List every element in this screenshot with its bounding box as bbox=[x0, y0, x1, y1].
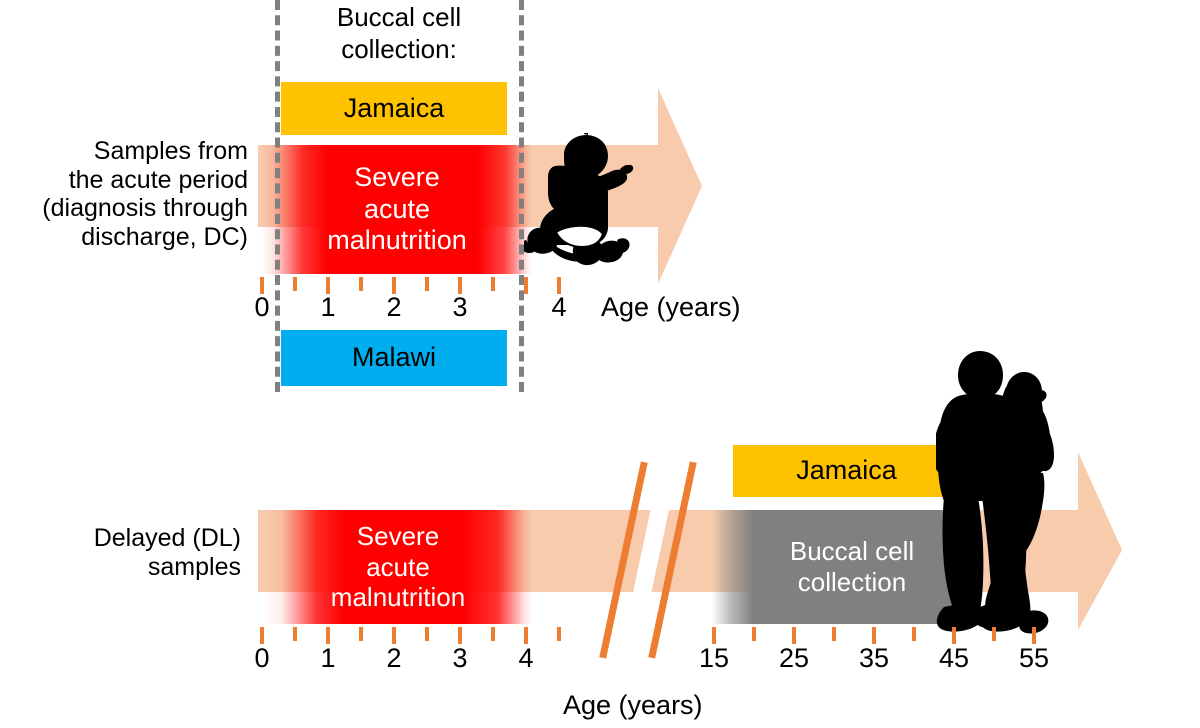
bottom-tick-label-45: 45 bbox=[932, 643, 976, 674]
top-jamaica-bar: Jamaica bbox=[281, 82, 507, 135]
bottom-tick-55 bbox=[1032, 627, 1036, 644]
top-jamaica-bar-label: Jamaica bbox=[344, 93, 445, 125]
top-tick-3-5b bbox=[524, 277, 528, 294]
bottom-tick-label-35: 35 bbox=[852, 643, 896, 674]
top-malawi-bar-label: Malawi bbox=[352, 342, 436, 374]
bottom-tick-45 bbox=[952, 627, 956, 644]
bottom-tick-2-5 bbox=[425, 627, 429, 641]
bottom-tick-20 bbox=[752, 627, 756, 641]
top-tick-3-5 bbox=[491, 277, 495, 291]
bottom-tick-4 bbox=[524, 627, 528, 644]
top-tick-label-4: 4 bbox=[539, 292, 579, 323]
bottom-buccal-bar-fade bbox=[712, 510, 754, 624]
top-malawi-bar: Malawi bbox=[281, 330, 507, 386]
top-header-label: Buccal cell collection: bbox=[287, 2, 511, 65]
top-tick-label-1: 1 bbox=[308, 292, 348, 323]
top-row-label: Samples from the acute period (diagnosis… bbox=[20, 137, 248, 251]
bottom-tick-label-25: 25 bbox=[772, 643, 816, 674]
bottom-tick-15 bbox=[712, 627, 716, 644]
bottom-tick-0-5 bbox=[293, 627, 297, 641]
bottom-axis-title: Age (years) bbox=[563, 690, 703, 721]
top-tick-0-5 bbox=[293, 277, 297, 291]
top-tick-label-3: 3 bbox=[440, 292, 480, 323]
bottom-malnutrition-bar: Severe acute malnutrition bbox=[263, 510, 533, 624]
adult-man-and-woman-silhouette bbox=[936, 345, 1060, 635]
bottom-jamaica-bar-label: Jamaica bbox=[796, 455, 897, 487]
bottom-tick-label-1: 1 bbox=[308, 643, 348, 674]
bottom-tick-3-5 bbox=[491, 627, 495, 641]
bottom-malnutrition-bar-label: Severe acute malnutrition bbox=[331, 521, 465, 613]
bottom-tick-35 bbox=[872, 627, 876, 644]
top-tick-2-5 bbox=[425, 277, 429, 291]
bottom-jamaica-bar: Jamaica bbox=[733, 445, 960, 497]
bottom-tick-50 bbox=[992, 627, 996, 641]
bottom-tick-label-55: 55 bbox=[1012, 643, 1056, 674]
top-malnutrition-bar: Severe acute malnutrition bbox=[262, 145, 532, 274]
bottom-tick-label-0: 0 bbox=[242, 643, 282, 674]
bottom-tick-label-15: 15 bbox=[692, 643, 736, 674]
bottom-tick-1 bbox=[326, 627, 330, 644]
figure-canvas: Buccal cell collection: Jamaica Severe a… bbox=[0, 0, 1200, 728]
collection-window-start-guide bbox=[275, 0, 280, 392]
bottom-tick-30 bbox=[832, 627, 836, 641]
top-tick-1-5 bbox=[359, 277, 363, 291]
bottom-tick-0 bbox=[260, 627, 264, 644]
top-axis-title: Age (years) bbox=[601, 292, 741, 323]
top-tick-label-2: 2 bbox=[374, 292, 414, 323]
bottom-tick-1-5 bbox=[359, 627, 363, 641]
bottom-tick-2 bbox=[392, 627, 396, 644]
bottom-tick-40 bbox=[912, 627, 916, 641]
bottom-tick-label-4: 4 bbox=[506, 643, 546, 674]
bottom-tick-25 bbox=[792, 627, 796, 644]
top-malnutrition-bar-label: Severe acute malnutrition bbox=[327, 162, 467, 258]
baby-sitting-silhouette bbox=[524, 133, 634, 275]
bottom-buccal-bar: Buccal cell collection bbox=[752, 510, 952, 624]
bottom-tick-3 bbox=[458, 627, 462, 644]
bottom-buccal-bar-label: Buccal cell collection bbox=[790, 536, 914, 597]
bottom-tick-label-2: 2 bbox=[374, 643, 414, 674]
bottom-tick-label-3: 3 bbox=[440, 643, 480, 674]
bottom-tick-4-5 bbox=[557, 627, 561, 641]
collection-window-end-guide bbox=[519, 0, 524, 392]
bottom-row-label: Delayed (DL) samples bbox=[35, 524, 241, 581]
